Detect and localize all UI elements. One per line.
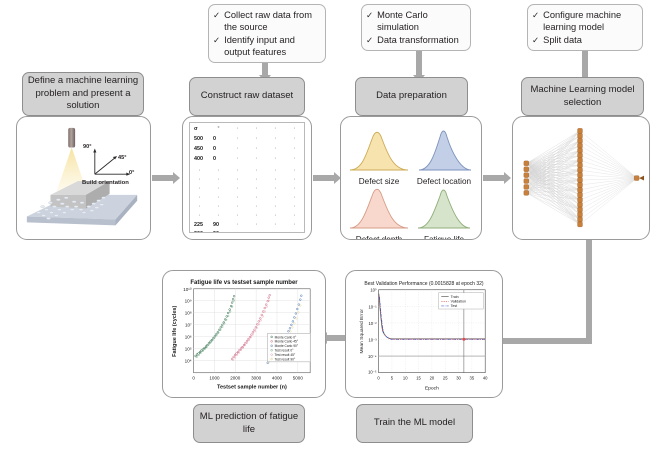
table-ellipsis: · [218, 204, 220, 210]
distribution-fatigue-life: Fatigue life [413, 183, 475, 240]
table-ellipsis: · [237, 222, 239, 228]
table-ellipsis: · [275, 222, 277, 228]
checklist-item: ✓ Configure machine learning model [532, 9, 637, 34]
step-label: Data preparation [376, 90, 447, 103]
table-ellipsis: · [256, 186, 258, 192]
table-ellipsis: · [275, 177, 277, 183]
table-ellipsis: · [199, 213, 201, 219]
x-tick: 0 [377, 376, 380, 381]
table-grid: σ 500 450 400 · · · · · · 225 200 ° 0 0 [190, 123, 304, 232]
step-box-data-preparation[interactable]: Data preparation [355, 77, 468, 116]
legend-label: Test [451, 304, 458, 308]
table-ellipsis: · [256, 146, 258, 152]
check-icon: ✓ [213, 34, 220, 46]
table-ellipsis: · [294, 204, 296, 210]
x-tick: 40 [483, 376, 488, 381]
x-axis-label: Epoch [425, 385, 439, 391]
table-column: · · · · · · · · · · · · [266, 123, 285, 232]
y-tick: 10⁷ [185, 323, 192, 328]
x-tick: 35 [470, 376, 475, 381]
table-ellipsis: · [256, 126, 258, 132]
connector-panel3-panel4 [483, 175, 506, 181]
step-box-define-problem[interactable]: Define a machine learning problem and pr… [22, 72, 144, 116]
fatigue-life-chart: Fatigue life vs testset sample number 10… [163, 271, 325, 397]
panel-build-orientation: 90° 45° 0° Build orientation [16, 116, 151, 240]
distribution-defect-depth: Defect depth [348, 183, 410, 240]
table-ellipsis: · [294, 126, 296, 132]
step-box-model-selection[interactable]: Machine Learning model selection [521, 77, 644, 116]
table-ellipsis: · [294, 146, 296, 152]
x-tick: 25 [443, 376, 448, 381]
table-column: · · · · · · · · · · · · [285, 123, 304, 232]
step-box-train-model[interactable]: Train the ML model [356, 404, 473, 443]
best-epoch-marker [462, 338, 465, 341]
legend-label: Monte Carlo 0° [275, 335, 297, 339]
legend-label: Monte Carlo 45° [275, 340, 299, 344]
table-ellipsis: · [256, 222, 258, 228]
table-ellipsis: · [237, 195, 239, 201]
distribution-defect-location: Defect location [413, 125, 475, 186]
table-ellipsis: · [237, 156, 239, 162]
table-cell: 450 [194, 146, 203, 152]
x-tick: 0 [192, 376, 195, 381]
arrowhead-right [504, 172, 511, 184]
distribution-curve [413, 183, 475, 229]
y-tick: 10⁶ [185, 335, 192, 340]
connector-nn-down [586, 240, 592, 343]
table-ellipsis: · [256, 204, 258, 210]
legend-label: Test result 90° [275, 357, 296, 361]
connector-checklist-modelsel [582, 48, 588, 77]
chart-title: Best Validation Performance (0.0015828 a… [364, 281, 484, 287]
neural-network-graph [513, 117, 649, 239]
connector-panel1-panel2 [152, 175, 175, 181]
input-layer-nodes [524, 161, 529, 195]
connector-checklist-dataprep [416, 48, 422, 77]
step-box-construct-dataset[interactable]: Construct raw dataset [189, 77, 305, 116]
panel-defect-distributions: Defect size Defect location Defect depth… [340, 116, 482, 240]
y-tick: 10⁻⁵ [368, 370, 377, 375]
checklist-item: ✓ Data transformation [366, 34, 465, 46]
legend-label: Train [451, 295, 459, 299]
step-label: Machine Learning model selection [526, 84, 639, 109]
distribution-curve [348, 183, 410, 229]
connector-train-to-prediction [327, 335, 346, 341]
x-tick: 5 [391, 376, 394, 381]
legend-label: Validation [451, 300, 466, 304]
table-ellipsis: · [199, 168, 201, 174]
arrowhead-right [173, 172, 180, 184]
legend-label: Test result 0° [275, 349, 295, 353]
y-tick: 10¹⁰ [183, 287, 192, 292]
distribution-curve [348, 125, 410, 171]
check-icon: ✓ [213, 9, 220, 21]
check-icon: ✓ [366, 9, 373, 21]
table-ellipsis: · [218, 186, 220, 192]
table-ellipsis: · [294, 186, 296, 192]
x-axis-label: Testset sample number (n) [217, 385, 287, 391]
build-orientation-caption: Build orientation [82, 180, 129, 186]
table-ellipsis: · [237, 204, 239, 210]
chart-legend: Train Validation Test [439, 293, 483, 309]
axis-label-0: 0° [129, 170, 134, 176]
table-cell: ° [218, 126, 220, 132]
table-ellipsis: · [199, 186, 201, 192]
y-tick: 10⁻³ [368, 337, 377, 342]
checklist-construct-dataset: ✓ Collect raw data from the source ✓ Ide… [208, 4, 326, 63]
table-ellipsis: · [256, 231, 258, 233]
table-cell: 0 [213, 146, 216, 152]
distribution-label: Fatigue life [413, 235, 475, 240]
table-ellipsis: · [237, 177, 239, 183]
step-label: Construct raw dataset [201, 90, 293, 103]
table-ellipsis: · [237, 168, 239, 174]
table-cell: 90 [213, 222, 219, 228]
panel-training-performance-chart: Best Validation Performance (0.0015828 a… [345, 270, 503, 398]
checklist-item: ✓ Monte Carlo simulation [366, 9, 465, 34]
table-ellipsis: · [294, 156, 296, 162]
x-tick: 4000 [272, 376, 283, 381]
table-ellipsis: · [237, 146, 239, 152]
table-cell: 90 [213, 231, 219, 233]
validation-performance-chart: Best Validation Performance (0.0015828 a… [346, 271, 502, 397]
table-ellipsis: · [275, 195, 277, 201]
distribution-label: Defect depth [348, 235, 410, 240]
axis-label-90: 90° [83, 144, 91, 150]
y-tick: 10⁸ [185, 311, 192, 316]
table-ellipsis: · [256, 136, 258, 142]
checklist-data-preparation: ✓ Monte Carlo simulation ✓ Data transfor… [361, 4, 471, 51]
table-ellipsis: · [256, 156, 258, 162]
connector-nn-left [503, 338, 592, 344]
table-ellipsis: · [294, 195, 296, 201]
table-ellipsis: · [237, 231, 239, 233]
table-ellipsis: · [256, 168, 258, 174]
panel-neural-network [512, 116, 650, 240]
chart-title: Fatigue life vs testset sample number [190, 280, 298, 286]
y-tick: 10⁴ [185, 358, 192, 363]
y-tick: 10⁰ [370, 288, 377, 293]
x-tick: 15 [416, 376, 421, 381]
hidden-layer-nodes [578, 128, 583, 227]
y-axis-label: Fatigue life (cycles) [172, 306, 178, 357]
table-ellipsis: · [199, 195, 201, 201]
checklist-item: ✓ Split data [532, 34, 637, 46]
table-column: σ 500 450 400 · · · · · · 225 200 [190, 123, 209, 232]
table-ellipsis: · [256, 195, 258, 201]
table-ellipsis: · [275, 231, 277, 233]
dataset-table: σ 500 450 400 · · · · · · 225 200 ° 0 0 [189, 122, 305, 233]
table-ellipsis: · [237, 126, 239, 132]
x-tick: 10 [403, 376, 408, 381]
table-ellipsis: · [294, 168, 296, 174]
x-tick: 2000 [230, 376, 241, 381]
table-ellipsis: · [294, 177, 296, 183]
checklist-item: ✓ Collect raw data from the source [213, 9, 320, 34]
x-tick: 30 [456, 376, 461, 381]
distribution-curve [413, 125, 475, 171]
table-ellipsis: · [294, 222, 296, 228]
legend-label: Test result 45° [275, 353, 296, 357]
table-ellipsis: · [294, 136, 296, 142]
check-icon: ✓ [366, 34, 373, 46]
step-label: Define a machine learning problem and pr… [27, 75, 139, 113]
y-tick: 10⁻² [368, 321, 377, 326]
y-tick: 10⁻¹ [368, 304, 377, 309]
table-ellipsis: · [237, 186, 239, 192]
table-ellipsis: · [275, 136, 277, 142]
step-label: ML prediction of fatigue life [198, 411, 300, 436]
y-axis-label: Mean Squared Error [359, 309, 365, 354]
table-column: · · · · · · · · · · · · [247, 123, 266, 232]
connector-panel2-panel3 [313, 175, 336, 181]
y-tick: 10⁵ [185, 347, 192, 352]
x-tick: 1000 [209, 376, 220, 381]
y-tick: 10⁹ [185, 299, 192, 304]
checklist-model-selection: ✓ Configure machine learning model ✓ Spl… [527, 4, 643, 51]
printer-illustration [17, 117, 150, 239]
table-cell: 225 [194, 222, 203, 228]
table-ellipsis: · [275, 204, 277, 210]
table-ellipsis: · [294, 231, 296, 233]
chart-legend: Monte Carlo 0° Monte Carlo 45° Monte Car… [268, 333, 310, 362]
table-ellipsis: · [275, 186, 277, 192]
table-ellipsis: · [218, 168, 220, 174]
panel-fatigue-life-chart: Fatigue life vs testset sample number 10… [162, 270, 326, 398]
table-ellipsis: · [256, 213, 258, 219]
table-cell: 0 [213, 156, 216, 162]
table-cell: 0 [213, 136, 216, 142]
x-tick: 20 [430, 376, 435, 381]
table-ellipsis: · [275, 146, 277, 152]
step-label: Train the ML model [374, 417, 455, 430]
table-ellipsis: · [275, 126, 277, 132]
table-ellipsis: · [237, 136, 239, 142]
output-layer-node [634, 176, 644, 181]
table-cell: σ [194, 126, 198, 132]
table-ellipsis: · [275, 168, 277, 174]
distribution-defect-size: Defect size [348, 125, 410, 186]
table-ellipsis: · [199, 177, 201, 183]
workflow-diagram: ✓ Collect raw data from the source ✓ Ide… [0, 0, 667, 456]
table-ellipsis: · [294, 213, 296, 219]
x-tick: 3000 [251, 376, 262, 381]
table-ellipsis: · [275, 156, 277, 162]
table-cell: 400 [194, 156, 203, 162]
table-ellipsis: · [237, 213, 239, 219]
table-ellipsis: · [275, 213, 277, 219]
step-box-ml-prediction[interactable]: ML prediction of fatigue life [193, 404, 305, 443]
table-cell: 200 [194, 231, 203, 233]
table-column: · · · · · · · · · · · · [228, 123, 247, 232]
legend-label: Monte Carlo 90° [275, 344, 299, 348]
table-ellipsis: · [199, 204, 201, 210]
y-tick: 10⁻⁴ [368, 354, 377, 359]
table-ellipsis: · [218, 177, 220, 183]
x-tick: 5000 [293, 376, 304, 381]
table-ellipsis: · [256, 177, 258, 183]
check-icon: ✓ [532, 34, 539, 46]
checklist-item: ✓ Identify input and output features [213, 34, 320, 59]
check-icon: ✓ [532, 9, 539, 21]
panel-raw-dataset: σ 500 450 400 · · · · · · 225 200 ° 0 0 [182, 116, 312, 240]
table-ellipsis: · [218, 195, 220, 201]
table-column: ° 0 0 0 · · · · · · 90 90 [209, 123, 228, 232]
table-ellipsis: · [218, 213, 220, 219]
axis-label-45: 45° [118, 155, 126, 161]
table-cell: 500 [194, 136, 203, 142]
